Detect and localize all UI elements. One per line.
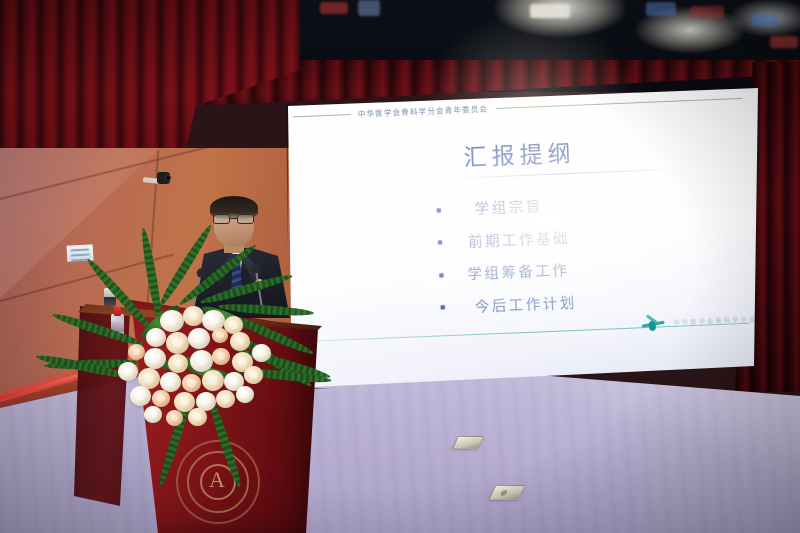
palm-frond <box>51 311 145 349</box>
stage-light <box>320 2 348 14</box>
rose-bloom <box>130 386 151 406</box>
slide-title: 汇报提纲 <box>288 126 755 179</box>
bullet-marker-icon <box>439 273 443 277</box>
stage-light <box>770 36 798 48</box>
rose-bloom <box>160 372 181 392</box>
stage-light <box>752 14 778 26</box>
rose-bloom <box>244 366 263 384</box>
rose-bloom <box>168 354 188 373</box>
bullet-marker-icon <box>437 208 441 212</box>
header-rule-right <box>495 98 742 109</box>
stage-light <box>358 0 380 16</box>
rose-bloom <box>128 344 145 360</box>
rose-bloom <box>212 328 228 343</box>
rose-bloom <box>236 386 254 403</box>
list-item-label: 前期工作基础 <box>468 227 571 252</box>
bullet-marker-icon <box>438 240 442 244</box>
rose-bloom <box>118 362 138 381</box>
rose-bloom <box>252 344 271 362</box>
slide-content: 中华医学会骨科学分会青年委员会 汇报提纲 学组宗旨 前期工作基础 学组筹备工作 <box>288 88 758 388</box>
rose-bloom <box>160 310 184 332</box>
header-rule-left <box>293 114 351 117</box>
rose-bloom <box>166 410 183 426</box>
rose-bloom <box>146 328 166 347</box>
wall-camera-icon <box>143 172 169 186</box>
rose-bloom <box>188 408 207 426</box>
slide-bullet-list: 学组宗旨 前期工作基础 学组筹备工作 今后工作计划 <box>436 182 758 325</box>
eyeglasses-icon <box>212 214 256 225</box>
rose-bloom <box>152 390 170 407</box>
rose-bloom <box>144 406 162 423</box>
auditorium-photo: 中华医学会骨科学分会青年委员会 汇报提纲 学组宗旨 前期工作基础 学组筹备工作 <box>0 0 800 533</box>
rose-bloom <box>182 374 201 392</box>
rose-bloom <box>202 370 224 391</box>
palm-frond <box>84 256 155 333</box>
floral-arrangement <box>40 262 350 437</box>
bullet-marker-icon <box>441 305 445 309</box>
podium-emblem-letter: A <box>209 469 225 491</box>
podium-emblem: A <box>176 440 260 524</box>
teal-bird-logo-icon <box>639 314 666 335</box>
rose-bloom <box>230 332 250 351</box>
list-item-label: 学组宗旨 <box>474 195 543 219</box>
rose-bloom <box>166 332 189 354</box>
rose-bloom <box>183 306 204 326</box>
rose-bloom <box>212 348 230 365</box>
projection-screen: 中华医学会骨科学分会青年委员会 汇报提纲 学组宗旨 前期工作基础 学组筹备工作 <box>288 88 758 388</box>
slide-footer-text: 中华医学会骨科学分会 <box>673 314 757 326</box>
rose-bloom <box>144 348 166 369</box>
rose-bloom <box>188 328 210 349</box>
list-item-label: 今后工作计划 <box>474 291 577 316</box>
list-item-label: 学组筹备工作 <box>467 259 570 284</box>
stage-light <box>690 6 724 18</box>
slide-header-text: 中华医学会骨科学分会青年委员会 <box>358 103 489 119</box>
stage-light <box>530 4 570 18</box>
rose-bloom <box>190 350 213 372</box>
rose-bloom <box>216 390 235 408</box>
stage-light <box>646 2 676 16</box>
